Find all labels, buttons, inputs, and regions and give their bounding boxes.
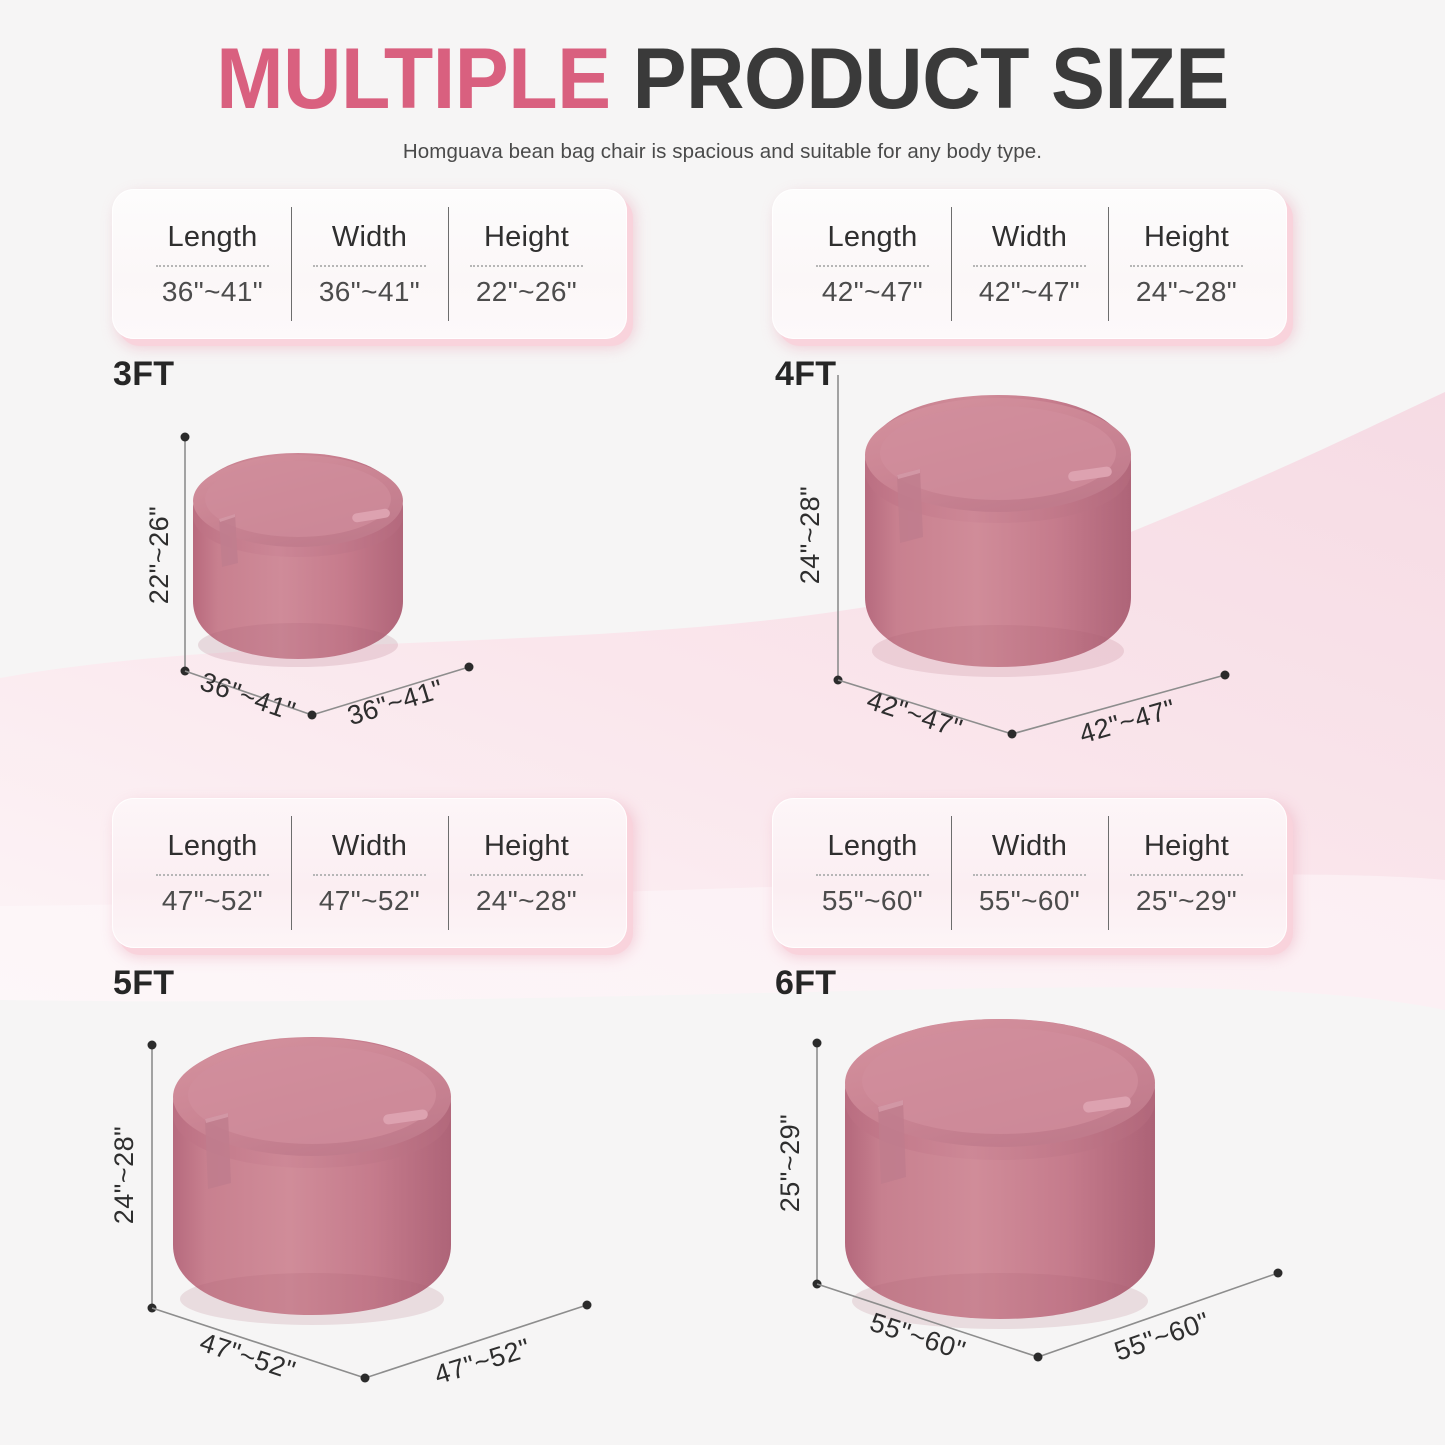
page-title-main: PRODUCT SIZE <box>633 31 1229 127</box>
spec-header-length: Length <box>828 223 918 252</box>
dimension-height-5ft: 24"~28" <box>109 1041 157 1313</box>
spec-header-width: Width <box>992 223 1067 252</box>
spec-table-3ft: Length 36"~41" Width 36"~41" Height 22"~… <box>112 189 627 339</box>
beanbag-shape <box>845 1019 1155 1329</box>
spec-divider <box>313 265 426 267</box>
spec-header-length: Length <box>168 223 258 252</box>
spec-value-width: 55"~60" <box>979 887 1080 915</box>
spec-table-4ft: Length 42"~47" Width 42"~47" Height 24"~… <box>772 189 1287 339</box>
spec-divider <box>470 874 583 876</box>
spec-value-length: 36"~41" <box>162 278 263 306</box>
spec-column-length: Length 47"~52" <box>134 798 291 948</box>
spec-divider <box>470 265 583 267</box>
size-label-6ft: 6FT <box>775 964 836 1003</box>
beanbag-shape <box>865 395 1131 677</box>
spec-header-height: Height <box>1144 223 1229 252</box>
spec-value-height: 25"~29" <box>1136 887 1237 915</box>
spec-table-5ft: Length 47"~52" Width 47"~52" Height 24"~… <box>112 798 627 948</box>
spec-column-height: Height 25"~29" <box>1108 798 1265 948</box>
spec-value-width: 42"~47" <box>979 278 1080 306</box>
dimension-base-3ft: 36"~41" 36"~41" <box>185 663 474 732</box>
dimension-height-label-4ft: 24"~28" <box>795 486 825 585</box>
spec-column-width: Width 36"~41" <box>291 189 448 339</box>
spec-column-height: Height 22"~26" <box>448 189 605 339</box>
dimension-height-label-5ft: 24"~28" <box>109 1126 139 1225</box>
spec-value-height: 22"~26" <box>476 278 577 306</box>
spec-column-width: Width 55"~60" <box>951 798 1108 948</box>
spec-column-height: Height 24"~28" <box>1108 189 1265 339</box>
spec-divider <box>156 874 269 876</box>
page-title: MULTIPLE PRODUCT SIZE <box>43 0 1401 122</box>
spec-header-length: Length <box>168 832 258 861</box>
spec-value-width: 47"~52" <box>319 887 420 915</box>
spec-value-length: 47"~52" <box>162 887 263 915</box>
spec-header-height: Height <box>484 223 569 252</box>
spec-column-length: Length 42"~47" <box>794 189 951 339</box>
dimension-height-4ft: 24"~28" <box>795 375 843 685</box>
page-header: MULTIPLE PRODUCT SIZE Homguava bean bag … <box>0 0 1445 164</box>
beanbag-shape <box>193 453 403 667</box>
spec-value-height: 24"~28" <box>476 887 577 915</box>
beanbag-shape <box>173 1037 451 1325</box>
dimension-length-label-3ft: 36"~41" <box>196 666 299 726</box>
dimension-width-label-3ft: 36"~41" <box>344 674 447 731</box>
spec-divider <box>313 874 426 876</box>
page-title-accent: MULTIPLE <box>216 31 610 127</box>
dimension-height-3ft: 22"~26" <box>144 433 190 676</box>
product-illustration-6ft: 25"~29" 55"~60" 55"~60" <box>775 995 1320 1405</box>
spec-table-6ft: Length 55"~60" Width 55"~60" Height 25"~… <box>772 798 1287 948</box>
spec-divider <box>973 265 1086 267</box>
spec-divider <box>816 874 929 876</box>
spec-header-width: Width <box>992 832 1067 861</box>
spec-value-height: 24"~28" <box>1136 278 1237 306</box>
page-subtitle: Homguava bean bag chair is spacious and … <box>0 122 1445 164</box>
dimension-length-label-4ft: 42"~47" <box>863 685 966 744</box>
spec-header-height: Height <box>1144 832 1229 861</box>
product-illustration-5ft: 24"~28" 47"~52" 47"~52" <box>100 1015 630 1405</box>
spec-header-length: Length <box>828 832 918 861</box>
spec-value-length: 42"~47" <box>822 278 923 306</box>
dimension-height-label-6ft: 25"~29" <box>775 1114 805 1213</box>
spec-value-length: 55"~60" <box>822 887 923 915</box>
spec-column-width: Width 42"~47" <box>951 189 1108 339</box>
product-illustration-4ft: 24"~28" 42"~47" 42"~47" <box>770 375 1300 750</box>
spec-value-width: 36"~41" <box>319 278 420 306</box>
spec-column-height: Height 24"~28" <box>448 798 605 948</box>
size-label-3ft: 3FT <box>113 355 174 394</box>
spec-divider <box>816 265 929 267</box>
infographic-canvas: MULTIPLE PRODUCT SIZE Homguava bean bag … <box>0 0 1445 1445</box>
spec-header-width: Width <box>332 832 407 861</box>
spec-divider <box>156 265 269 267</box>
dimension-length-label-5ft: 47"~52" <box>196 1327 299 1386</box>
product-illustration-3ft: 22"~26" 36"~41" 36"~41" <box>130 415 600 725</box>
spec-divider <box>973 874 1086 876</box>
dimension-width-label-5ft: 47"~52" <box>431 1333 534 1390</box>
spec-column-length: Length 36"~41" <box>134 189 291 339</box>
dimension-height-6ft: 25"~29" <box>775 1039 822 1289</box>
spec-column-width: Width 47"~52" <box>291 798 448 948</box>
spec-header-height: Height <box>484 832 569 861</box>
dimension-height-label-3ft: 22"~26" <box>144 506 174 605</box>
dimension-base-4ft: 42"~47" 42"~47" <box>838 671 1230 750</box>
size-label-5ft: 5FT <box>113 964 174 1003</box>
spec-header-width: Width <box>332 223 407 252</box>
spec-column-length: Length 55"~60" <box>794 798 951 948</box>
size-label-4ft: 4FT <box>775 355 836 394</box>
spec-divider <box>1130 265 1243 267</box>
spec-divider <box>1130 874 1243 876</box>
